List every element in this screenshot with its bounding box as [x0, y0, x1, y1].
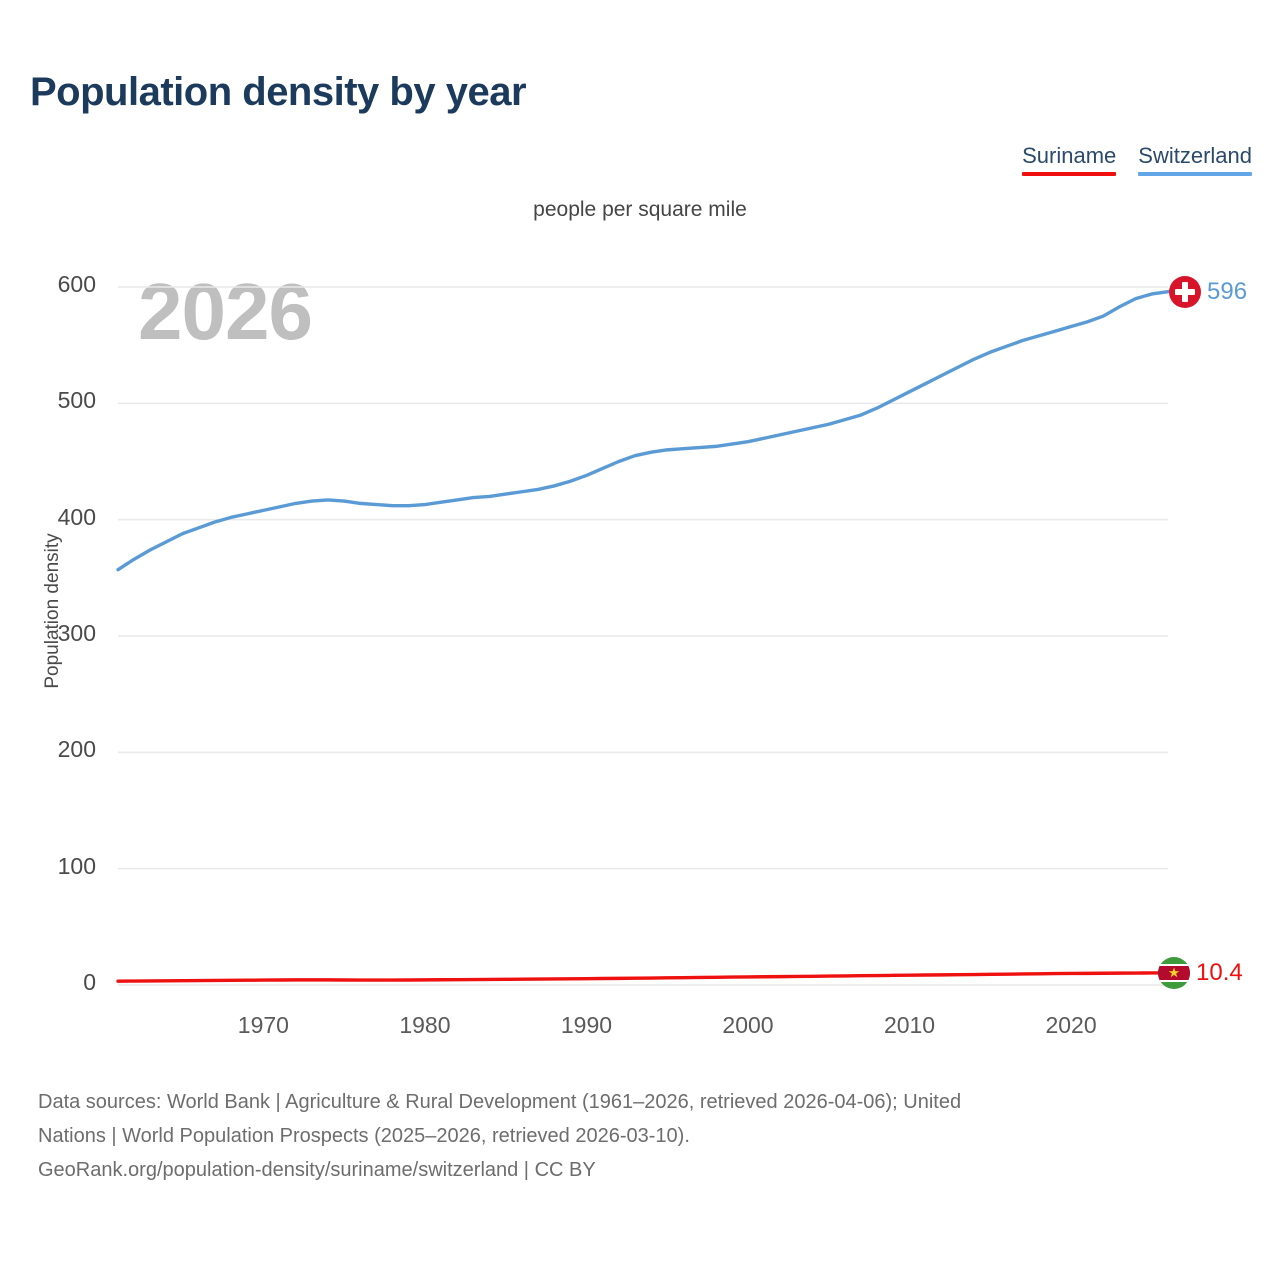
legend-rule-suriname — [1022, 172, 1116, 176]
legend-rule-switzerland — [1138, 172, 1252, 176]
footer-line-2: Nations | World Population Prospects (20… — [38, 1119, 1253, 1153]
chart-units-text: people per square mile — [533, 198, 747, 222]
suriname-endpoint[interactable]: 10.4 — [1158, 957, 1243, 989]
legend-label-switzerland: Switzerland — [1138, 143, 1252, 169]
flag-switzerland-icon — [1169, 276, 1201, 308]
series-line-suriname — [118, 973, 1168, 981]
y-tick-label: 0 — [6, 969, 96, 996]
x-tick-label: 2010 — [850, 1012, 970, 1039]
chart-units-subtitle: people per square mile — [0, 198, 1280, 222]
chart-page: Population density by year Suriname Swit… — [0, 0, 1280, 1280]
x-tick-label: 1990 — [526, 1012, 646, 1039]
switzerland-endpoint-value: 596 — [1207, 278, 1247, 306]
legend-item-switzerland[interactable]: Switzerland — [1138, 143, 1252, 176]
y-tick-label: 400 — [6, 504, 96, 531]
gridlines — [118, 287, 1168, 985]
legend: Suriname Switzerland — [1022, 143, 1252, 176]
x-tick-label: 2000 — [688, 1012, 808, 1039]
page-title: Population density by year — [30, 70, 526, 115]
y-axis-title: Population density — [42, 511, 64, 711]
series-lines — [118, 292, 1168, 982]
x-tick-label: 2020 — [1011, 1012, 1131, 1039]
suriname-endpoint-value: 10.4 — [1196, 959, 1243, 987]
footer-line-1: Data sources: World Bank | Agriculture &… — [38, 1085, 1253, 1119]
footer-sources: Data sources: World Bank | Agriculture &… — [38, 1085, 1253, 1187]
x-tick-label: 1980 — [365, 1012, 485, 1039]
legend-label-suriname: Suriname — [1022, 143, 1116, 169]
y-tick-label: 200 — [6, 736, 96, 763]
footer-line-3: GeoRank.org/population-density/suriname/… — [38, 1153, 1253, 1187]
x-tick-label: 1970 — [203, 1012, 323, 1039]
y-tick-label: 100 — [6, 853, 96, 880]
y-tick-label: 300 — [6, 620, 96, 647]
y-tick-label: 600 — [6, 271, 96, 298]
flag-star-icon — [1158, 957, 1190, 989]
switzerland-endpoint[interactable]: 596 — [1169, 276, 1247, 308]
year-watermark: 2026 — [138, 272, 312, 352]
flag-suriname-icon — [1158, 957, 1190, 989]
legend-item-suriname[interactable]: Suriname — [1022, 143, 1116, 176]
y-tick-label: 500 — [6, 387, 96, 414]
